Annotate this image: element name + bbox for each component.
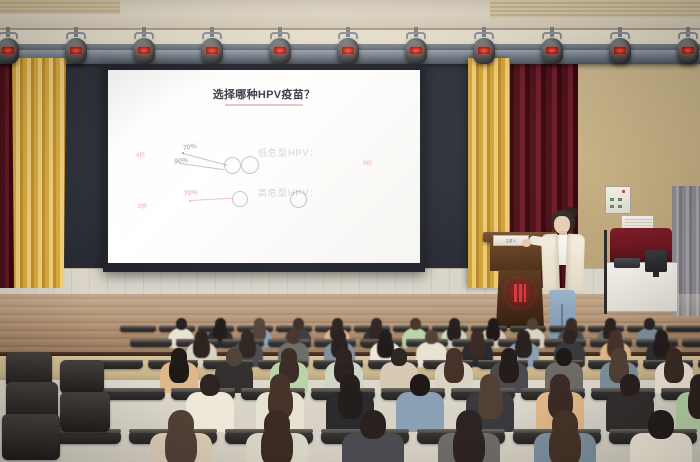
av-monitor-screen — [645, 250, 667, 272]
projection-screen-frame: 选择哪种HPV疫苗？ 低危型HPV： 高危型HPV： 4价 70% 90% 9价… — [103, 64, 425, 272]
control-button-4[interactable] — [618, 205, 622, 208]
presenter-jeans — [549, 290, 575, 342]
curtain-gold-left — [12, 58, 66, 288]
wall-control-panel[interactable] — [605, 186, 631, 214]
stage-spotlight-9 — [539, 36, 565, 70]
light-lens-icon — [478, 47, 490, 54]
light-lens-icon — [70, 47, 82, 54]
stage-spotlight-10 — [607, 36, 633, 70]
wall-air-vent — [621, 215, 654, 229]
annotation-circle-b — [241, 156, 259, 174]
annotation-valency-9: 9价 — [363, 158, 372, 167]
control-button-2[interactable] — [618, 198, 622, 201]
light-lens-icon — [546, 47, 558, 54]
projected-slide: 选择哪种HPV疫苗？ 低危型HPV： 高危型HPV： 4价 70% 90% 9价… — [108, 70, 420, 263]
control-button-3[interactable] — [610, 205, 614, 208]
presenter — [531, 206, 593, 342]
floor-object-b — [146, 343, 156, 346]
control-button-1[interactable] — [610, 198, 614, 201]
presenter-hand — [522, 239, 531, 247]
annotation-percent-70-upper: 70% — [183, 143, 198, 152]
lecture-hall-photo: 选择哪种HPV疫苗？ 低危型HPV： 高危型HPV： 4价 70% 90% 9价… — [0, 0, 700, 462]
floor-cable — [152, 336, 188, 344]
slide-label-low-risk: 低危型HPV： — [258, 146, 320, 159]
floor-object-a — [131, 341, 138, 345]
av-mixer-equipment — [614, 258, 640, 268]
stage-wall-tile-band — [0, 268, 700, 296]
annotation-valency-4: 4价 — [136, 150, 145, 159]
annotation-valency-2: 2价 — [138, 201, 147, 210]
slide-title-underline — [225, 104, 303, 106]
stage-riser-front — [0, 356, 700, 382]
annotation-circle-d — [290, 191, 307, 208]
hall-floor — [0, 380, 700, 462]
light-lens-icon — [138, 47, 150, 54]
presenter-blazer-right — [565, 234, 585, 295]
stage-spotlight-11 — [675, 36, 700, 70]
stage-spotlight-2 — [63, 36, 89, 70]
av-cart-cabinet — [606, 262, 678, 312]
ceiling-slat-panel-left — [0, 0, 120, 14]
ceiling-slat-panel-right — [490, 0, 700, 18]
stage-spotlight-8 — [471, 36, 497, 70]
stage-floor — [0, 294, 700, 356]
light-lens-icon — [682, 47, 694, 54]
av-cart-frame — [604, 230, 607, 314]
light-lens-icon — [2, 47, 14, 54]
presenter-shoes — [549, 339, 575, 343]
annotation-leader-line-mid — [180, 163, 224, 170]
light-lens-icon — [342, 47, 354, 54]
power-led-icon — [622, 190, 625, 193]
light-lens-icon — [274, 47, 286, 54]
annotation-percent-70-lower: 70% — [184, 189, 199, 197]
stage-spotlight-1 — [0, 36, 21, 70]
annotation-leader-line-lower — [190, 198, 232, 201]
light-lens-icon — [614, 47, 626, 54]
slide-label-high-risk: 高危型HPV： — [258, 186, 320, 199]
annotation-circle-a — [224, 157, 241, 174]
slide-title: 选择哪种HPV疫苗？ — [108, 86, 420, 102]
annotation-circle-c — [232, 191, 248, 207]
light-lens-icon — [410, 47, 422, 54]
light-lens-icon — [206, 47, 218, 54]
